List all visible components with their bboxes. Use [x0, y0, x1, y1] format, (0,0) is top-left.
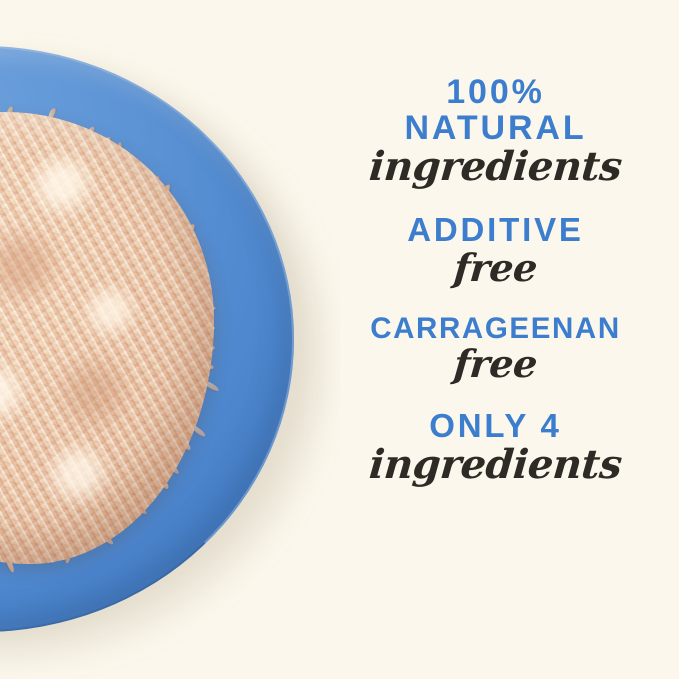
claim-script: ingredients [310, 147, 679, 187]
claim-additive-free: ADDITIVE free [312, 213, 679, 287]
food-photo [0, 0, 340, 679]
claim-headline: 100% NATURAL [312, 74, 679, 146]
claim-headline: ADDITIVE [312, 213, 679, 248]
claim-carrageenan-free: CARRAGEENAN free [312, 313, 679, 383]
claim-script: free [310, 249, 679, 287]
claim-only-4-ingredients: ONLY 4 ingredients [312, 409, 679, 485]
claims-column: 100% NATURAL ingredients ADDITIVE free C… [312, 0, 679, 679]
product-benefits-graphic: 100% NATURAL ingredients ADDITIVE free C… [0, 0, 679, 679]
claim-headline: ONLY 4 [312, 409, 679, 444]
claim-script: free [310, 345, 679, 383]
claim-natural-ingredients: 100% NATURAL ingredients [312, 74, 679, 187]
claim-script: ingredients [310, 445, 679, 485]
claim-headline: CARRAGEENAN [312, 313, 679, 344]
